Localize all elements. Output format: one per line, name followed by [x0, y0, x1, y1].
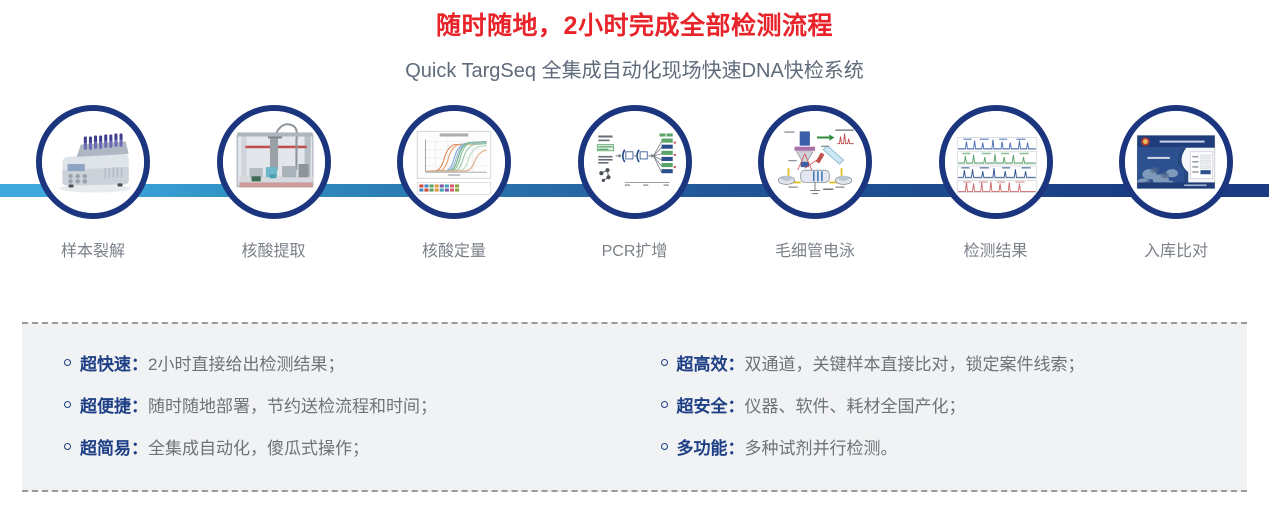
feature-description: 2小时直接给出检测结果； — [148, 344, 344, 386]
feature-term: 超安全： — [677, 386, 745, 428]
lysis-instrument-photo-icon — [42, 111, 144, 213]
feature-term: 超高效： — [677, 344, 745, 386]
bullet-ring-icon — [661, 359, 668, 366]
feature-item: 超安全： 仪器、软件、耗材全国产化； — [661, 386, 1248, 428]
pcr-workflow-diagram-icon — [584, 111, 686, 213]
feature-term: 多功能： — [677, 428, 745, 470]
process-step-3[interactable]: 核酸定量 — [379, 105, 529, 280]
bullet-ring-icon — [64, 443, 71, 450]
step-circle-4 — [578, 105, 692, 219]
process-step-list: 样本裂解 — [0, 105, 1269, 280]
step-label-3: 核酸定量 — [422, 241, 486, 263]
process-step-5[interactable]: 毛细管电泳 — [740, 105, 890, 280]
feature-column-right: 超高效： 双通道，关键样本直接比对，锁定案件线索； 超安全： 仪器、软件、耗材全… — [651, 324, 1248, 490]
step-circle-1 — [36, 105, 150, 219]
process-step-6[interactable]: 检测结果 — [921, 105, 1071, 280]
amplification-curve-chart-icon — [403, 111, 505, 213]
feature-term: 超简易： — [80, 428, 148, 470]
step-circle-5 — [758, 105, 872, 219]
process-step-2[interactable]: 核酸提取 — [199, 105, 349, 280]
feature-column-left: 超快速： 2小时直接给出检测结果； 超便捷： 随时随地部署，节约送检流程和时间；… — [22, 324, 651, 490]
step-circle-7 — [1119, 105, 1233, 219]
feature-item: 多功能： 多种试剂并行检测。 — [661, 428, 1248, 470]
feature-item: 超简易： 全集成自动化，傻瓜式操作； — [64, 428, 651, 470]
feature-description: 全集成自动化，傻瓜式操作； — [148, 428, 369, 470]
process-step-1[interactable]: 样本裂解 — [18, 105, 168, 280]
feature-item: 超高效： 双通道，关键样本直接比对，锁定案件线索； — [661, 344, 1248, 386]
bullet-ring-icon — [661, 443, 668, 450]
step-circle-3 — [397, 105, 511, 219]
page-subtitle: Quick TargSeq 全集成自动化现场快速DNA快检系统 — [0, 42, 1269, 85]
extraction-robot-photo-icon — [223, 111, 325, 213]
feature-description: 随时随地部署，节约送检流程和时间； — [148, 386, 437, 428]
feature-item: 超便捷： 随时随地部署，节约送检流程和时间； — [64, 386, 651, 428]
bullet-ring-icon — [661, 401, 668, 408]
page-title: 随时随地，2小时完成全部检测流程 — [0, 6, 1269, 42]
step-label-1: 样本裂解 — [61, 241, 125, 263]
step-label-6: 检测结果 — [963, 241, 1027, 263]
feature-description: 仪器、软件、耗材全国产化； — [745, 386, 966, 428]
feature-description: 多种试剂并行检测。 — [745, 428, 898, 470]
capillary-electrophoresis-diagram-icon — [764, 111, 866, 213]
step-label-4: PCR扩增 — [602, 241, 668, 263]
step-circle-6 — [939, 105, 1053, 219]
bullet-ring-icon — [64, 401, 71, 408]
step-label-2: 核酸提取 — [241, 241, 305, 263]
feature-list-panel: 超快速： 2小时直接给出检测结果； 超便捷： 随时随地部署，节约送检流程和时间；… — [22, 322, 1247, 492]
bullet-ring-icon — [64, 359, 71, 366]
feature-term: 超便捷： — [80, 386, 148, 428]
step-label-7: 入库比对 — [1144, 241, 1208, 263]
step-label-5: 毛细管电泳 — [775, 241, 855, 263]
feature-item: 超快速： 2小时直接给出检测结果； — [64, 344, 651, 386]
process-step-7[interactable]: 入库比对 — [1101, 105, 1251, 280]
feature-description: 双通道，关键样本直接比对，锁定案件线索； — [745, 344, 1085, 386]
database-software-screen-icon — [1125, 111, 1227, 213]
electropherogram-result-icon — [945, 111, 1047, 213]
page-header: 随时随地，2小时完成全部检测流程 Quick TargSeq 全集成自动化现场快… — [0, 0, 1269, 85]
step-circle-2 — [217, 105, 331, 219]
feature-term: 超快速： — [80, 344, 148, 386]
process-flow: 样本裂解 — [0, 105, 1269, 280]
process-step-4[interactable]: PCR扩增 — [560, 105, 710, 280]
